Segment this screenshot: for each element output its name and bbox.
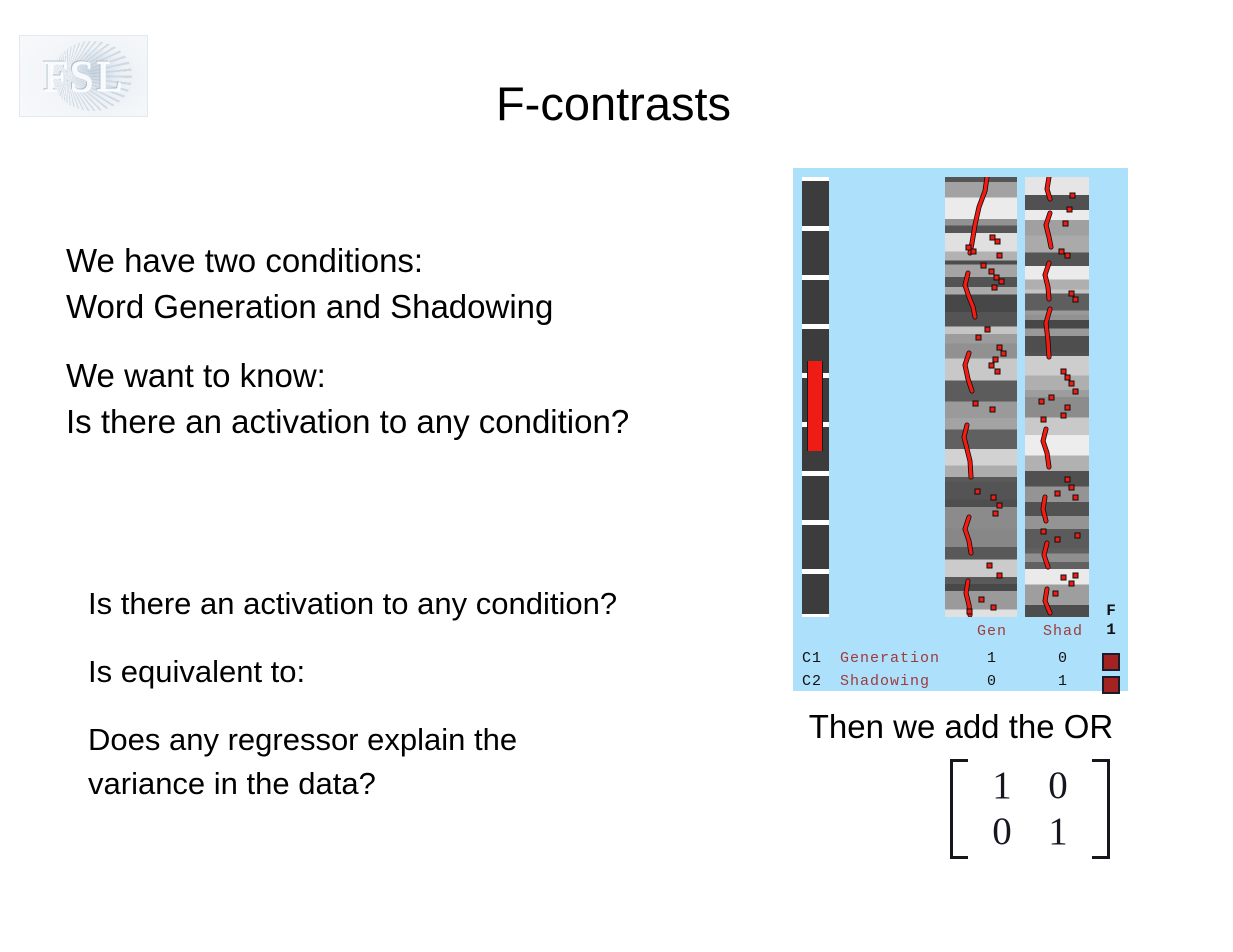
bracket-left-icon bbox=[950, 759, 968, 859]
ev-block-column bbox=[802, 177, 829, 617]
contrast-value-gen: 1 bbox=[956, 650, 1028, 667]
contrast-row[interactable]: C1 Generation 1 0 bbox=[793, 650, 1128, 674]
regressor-trace-generation bbox=[945, 177, 1017, 617]
matrix-row: 1 0 bbox=[974, 763, 1086, 809]
ev-block bbox=[802, 525, 829, 569]
identity-matrix: 1 0 0 1 bbox=[940, 756, 1120, 861]
contrast-row[interactable]: C2 Shadowing 0 1 bbox=[793, 673, 1128, 697]
column-header-f-index: 1 bbox=[1098, 621, 1124, 640]
or-caption: Then we add the OR bbox=[786, 708, 1136, 746]
column-header-gen: Gen bbox=[956, 623, 1028, 640]
matrix-cell: 0 bbox=[974, 809, 1030, 855]
contrast-value-shad: 1 bbox=[1031, 673, 1095, 690]
regressor-column-shadowing bbox=[1025, 177, 1089, 617]
matrix-row: 0 1 bbox=[974, 809, 1086, 855]
contrast-name: Shadowing bbox=[840, 673, 930, 690]
column-header-f-group: F 1 bbox=[1098, 602, 1124, 640]
page-title-text: F-contrasts bbox=[496, 76, 731, 131]
matrix-cell: 0 bbox=[1030, 763, 1086, 809]
ev-block bbox=[802, 280, 829, 324]
question-line-equivalent: Is equivalent to: bbox=[88, 650, 305, 694]
column-header-shad: Shad bbox=[1031, 623, 1095, 640]
ev-block bbox=[802, 181, 829, 226]
contrast-name: Generation bbox=[840, 650, 940, 667]
matrix-cell: 1 bbox=[974, 763, 1030, 809]
contrast-id: C1 bbox=[802, 650, 822, 667]
bracket-right-icon bbox=[1092, 759, 1110, 859]
f-test-checkbox[interactable] bbox=[1102, 676, 1120, 694]
regressor-trace-shadowing bbox=[1025, 177, 1089, 617]
page-title: F-contrasts bbox=[0, 76, 1233, 131]
regressor-column-generation bbox=[945, 177, 1017, 617]
paragraph-conditions: We have two conditions: Word Generation … bbox=[66, 238, 553, 330]
ev-highlight-bar bbox=[807, 361, 823, 451]
design-matrix-panel: Gen Shad F 1 C1 Generation 1 0 C2 Shadow… bbox=[793, 168, 1128, 691]
ev-block bbox=[802, 476, 829, 520]
ev-block bbox=[802, 574, 829, 614]
column-header-f: F bbox=[1098, 602, 1124, 621]
matrix-cell: 1 bbox=[1030, 809, 1086, 855]
ev-block bbox=[802, 231, 829, 275]
contrast-value-shad: 0 bbox=[1031, 650, 1095, 667]
identity-matrix-table: 1 0 0 1 bbox=[974, 763, 1086, 855]
contrast-id: C2 bbox=[802, 673, 822, 690]
contrast-value-gen: 0 bbox=[956, 673, 1028, 690]
paragraph-question: We want to know: Is there an activation … bbox=[66, 353, 629, 445]
question-line-regressor: Does any regressor explain the variance … bbox=[88, 718, 517, 806]
f-test-checkbox[interactable] bbox=[1102, 653, 1120, 671]
question-line-activation: Is there an activation to any condition? bbox=[88, 582, 617, 626]
